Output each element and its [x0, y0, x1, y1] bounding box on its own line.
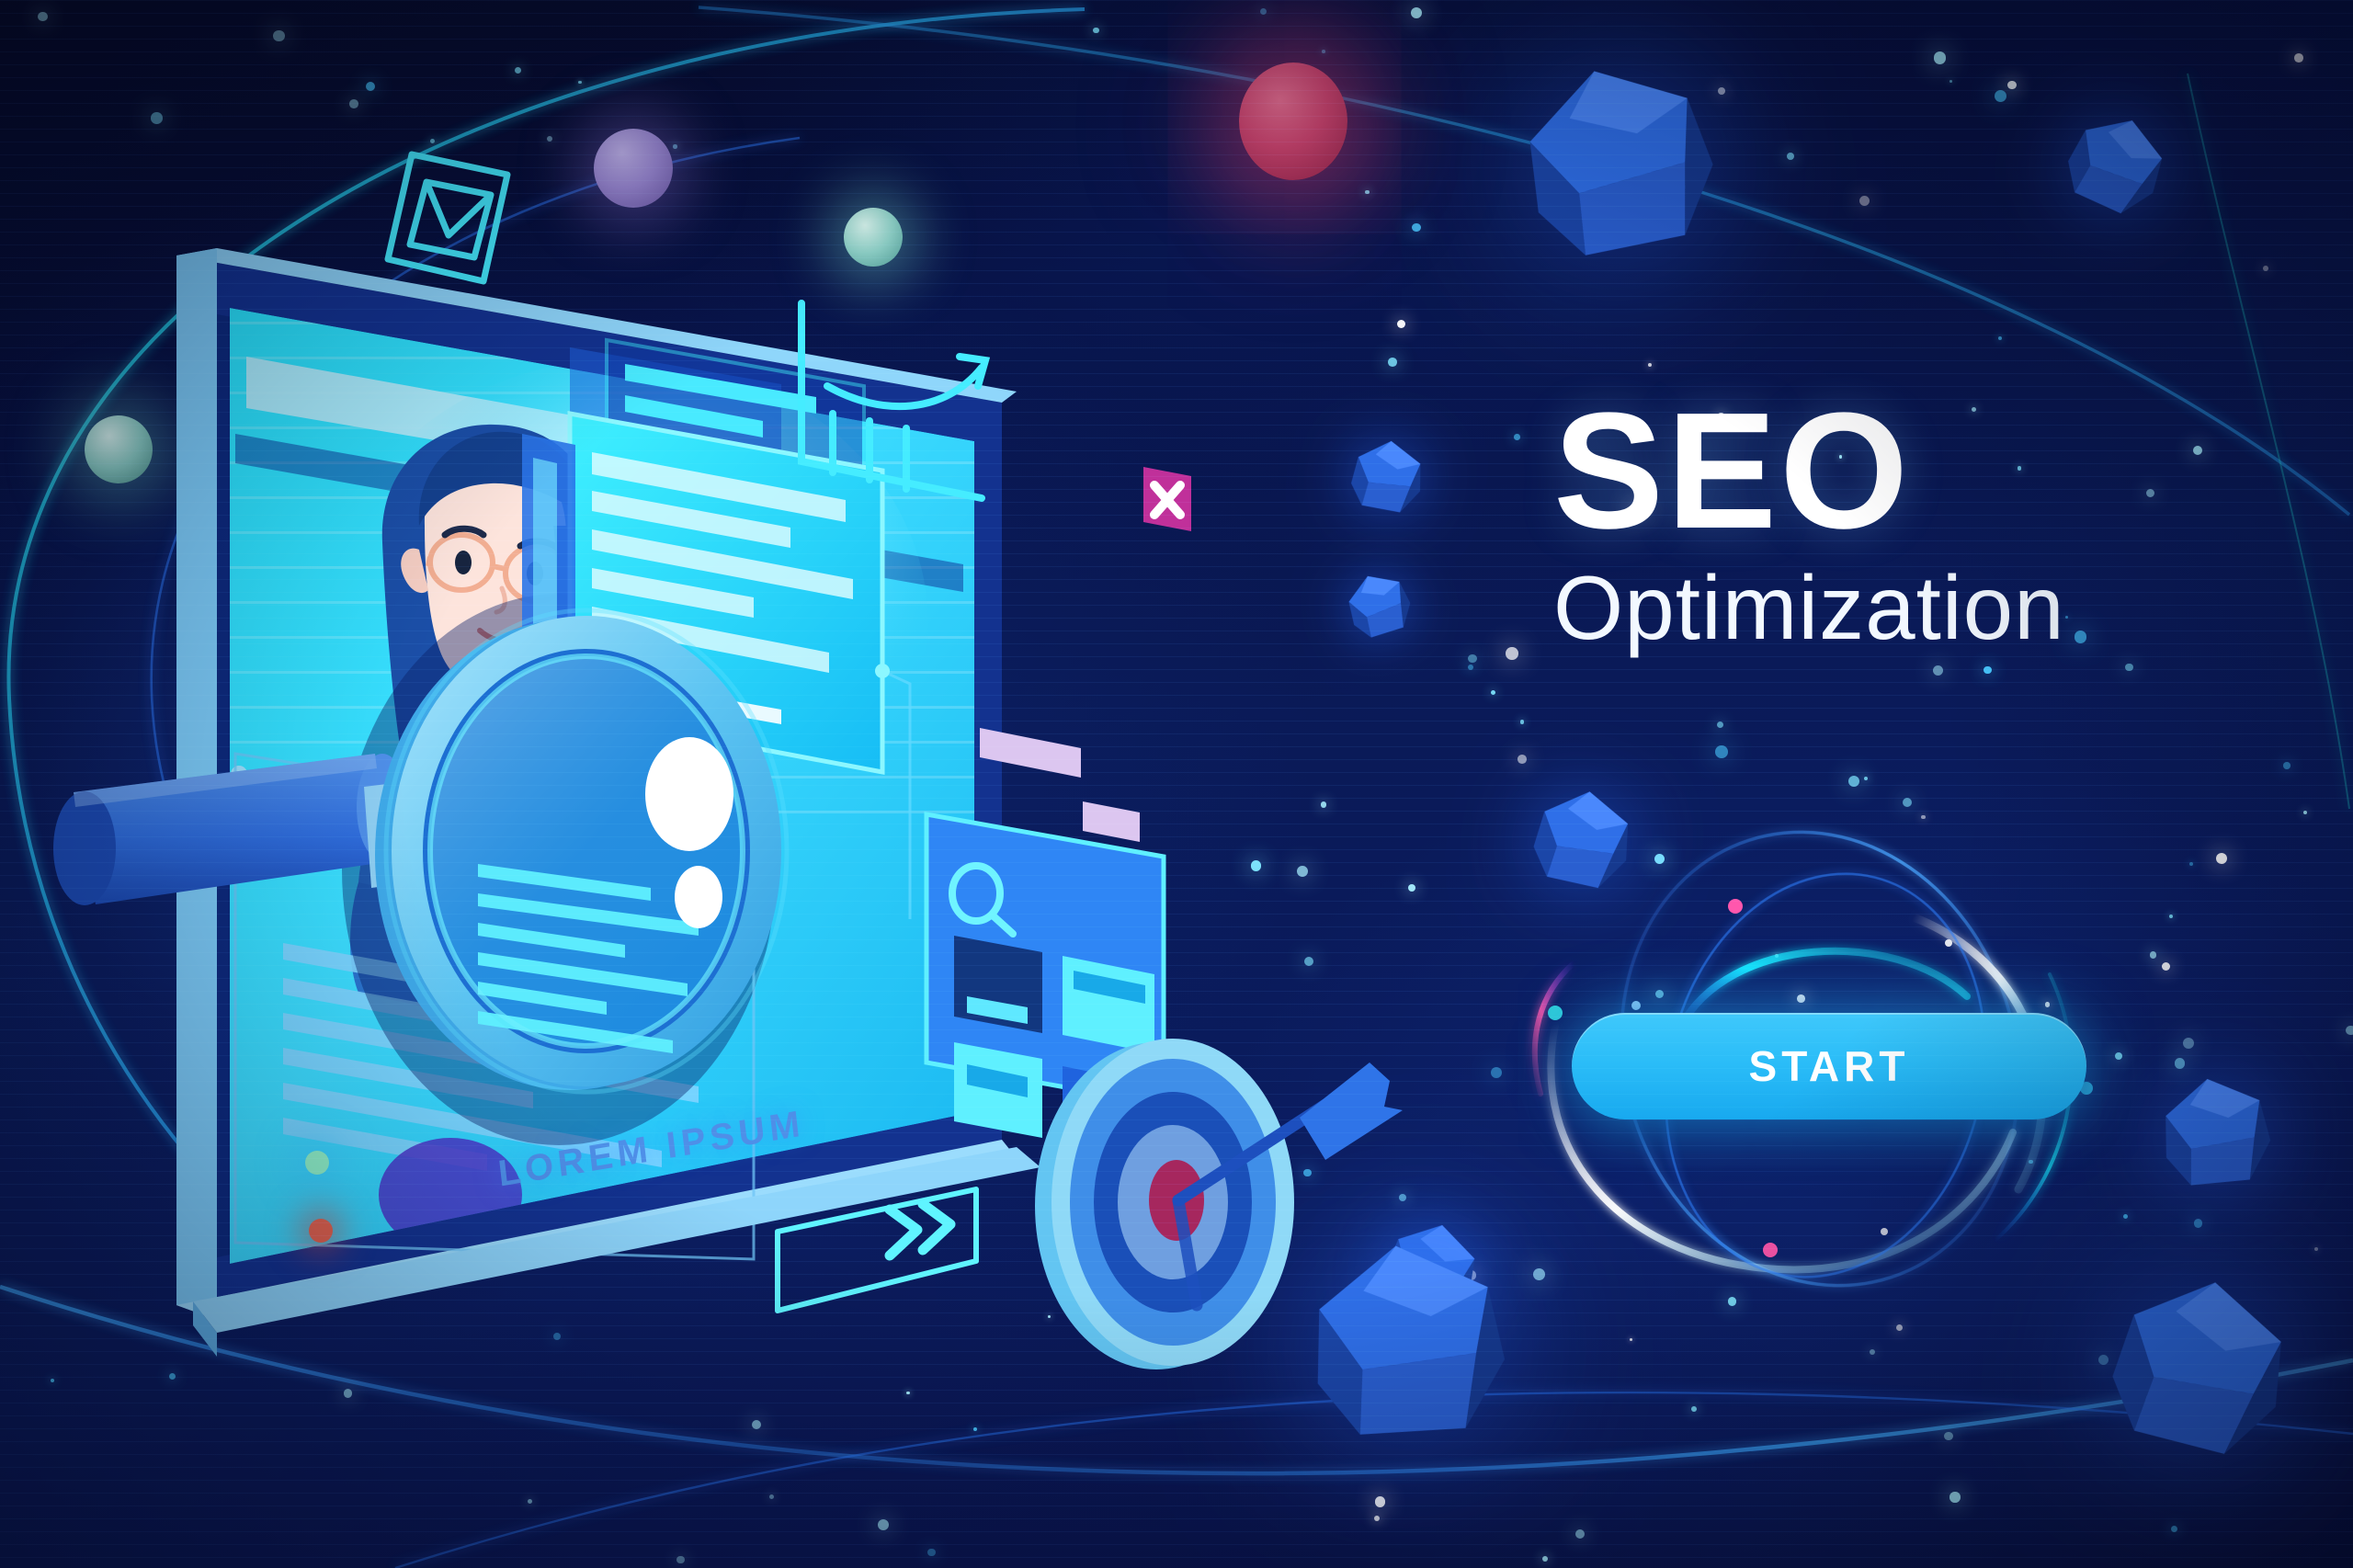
- star-dot: [769, 1494, 774, 1499]
- star-dot: [2283, 762, 2290, 769]
- star-dot: [927, 1549, 935, 1556]
- star-dot: [515, 67, 521, 74]
- star-dot: [1718, 87, 1725, 95]
- star-dot: [1491, 690, 1496, 696]
- star-dot: [38, 12, 48, 22]
- star-dot: [1520, 720, 1524, 723]
- star-dot: [2171, 1526, 2177, 1532]
- crystal-top-right: [1484, 32, 1752, 300]
- star-dot: [1648, 363, 1652, 367]
- star-dot: [2303, 811, 2308, 815]
- crystal-bottom-right: [2143, 1062, 2288, 1208]
- star-dot: [2150, 951, 2157, 959]
- star-dot: [273, 30, 285, 42]
- star-dot: [1870, 1349, 1875, 1355]
- star-dot: [1542, 1556, 1548, 1562]
- star-dot: [528, 1499, 532, 1504]
- star-dot: [2314, 1247, 2318, 1251]
- star-dot: [1630, 1338, 1632, 1341]
- star-dot: [1374, 1516, 1380, 1521]
- star-dot: [1949, 1492, 1961, 1503]
- status-led-red: [309, 1219, 333, 1243]
- star-dot: [1514, 434, 1520, 440]
- star-dot: [1933, 665, 1943, 676]
- star-dot: [1859, 196, 1870, 206]
- star-dot: [1375, 1496, 1385, 1506]
- star-dot: [2098, 1355, 2109, 1365]
- star-dot: [2162, 962, 2170, 971]
- cta-block: START: [1498, 809, 2132, 1305]
- star-dot: [2189, 862, 2193, 866]
- star-dot: [2183, 1038, 2194, 1049]
- lens-highlight-large: [645, 737, 733, 851]
- headline-block: SEO Optimization: [1553, 395, 2142, 653]
- star-dot: [1934, 51, 1946, 63]
- star-dot: [1998, 336, 2002, 340]
- star-dot: [2294, 53, 2303, 62]
- star-dot: [1848, 776, 1859, 787]
- star-dot: [1984, 666, 1992, 675]
- star-dot: [676, 1556, 685, 1564]
- star-dot: [1575, 1529, 1585, 1539]
- star-dot: [2175, 1058, 2186, 1069]
- star-dot: [2194, 1219, 2203, 1228]
- star-dot: [2193, 446, 2202, 455]
- accent-chip-2: [1083, 801, 1140, 842]
- star-dot: [1093, 28, 1098, 33]
- star-dot: [366, 82, 375, 91]
- star-dot: [878, 1519, 889, 1530]
- star-dot: [1691, 1406, 1697, 1412]
- star-dot: [349, 99, 358, 108]
- star-dot: [1468, 654, 1477, 664]
- star-dot: [1411, 7, 1422, 18]
- star-dot: [2146, 489, 2154, 497]
- star-dot: [1506, 647, 1518, 660]
- crystal-far-right: [2042, 94, 2186, 237]
- star-dot: [1787, 153, 1794, 160]
- star-dot: [1715, 745, 1728, 758]
- star-dot: [578, 81, 581, 84]
- star-dot: [1903, 798, 1912, 807]
- seo-illustration: [55, 110, 1415, 1471]
- star-dot: [2125, 664, 2133, 672]
- arrow-fletching: [1300, 1062, 1403, 1160]
- close-x-badge-icon: [1143, 467, 1191, 531]
- status-led-green: [305, 1151, 329, 1175]
- star-dot: [1995, 90, 2006, 102]
- page-subtitle: Optimization: [1553, 562, 2142, 653]
- lens-highlight-small: [675, 866, 722, 928]
- star-dot: [1949, 80, 1952, 83]
- star-dot: [1467, 1270, 1476, 1279]
- start-button[interactable]: START: [1572, 1013, 2086, 1119]
- star-dot: [1659, 117, 1666, 124]
- star-dot: [1468, 665, 1473, 670]
- star-dot: [1260, 8, 1267, 15]
- mail-envelope-icon: [388, 154, 507, 281]
- hero-canvas: LOREM IPSUM SEO Optimization: [0, 0, 2353, 1568]
- star-dot: [1864, 777, 1868, 780]
- target-dartboard: [1035, 1039, 1403, 1369]
- star-dot: [51, 1379, 54, 1382]
- star-dot: [2216, 853, 2227, 864]
- star-dot: [2263, 266, 2268, 271]
- star-dot: [1322, 50, 1325, 53]
- star-dot: [1717, 722, 1724, 729]
- star-dot: [1944, 1432, 1953, 1441]
- star-dot: [1896, 1324, 1903, 1331]
- star-dot: [2007, 81, 2017, 90]
- star-dot: [1518, 755, 1527, 764]
- page-title: SEO: [1553, 395, 2142, 548]
- star-dot: [2346, 1026, 2353, 1035]
- star-dot: [2169, 915, 2173, 918]
